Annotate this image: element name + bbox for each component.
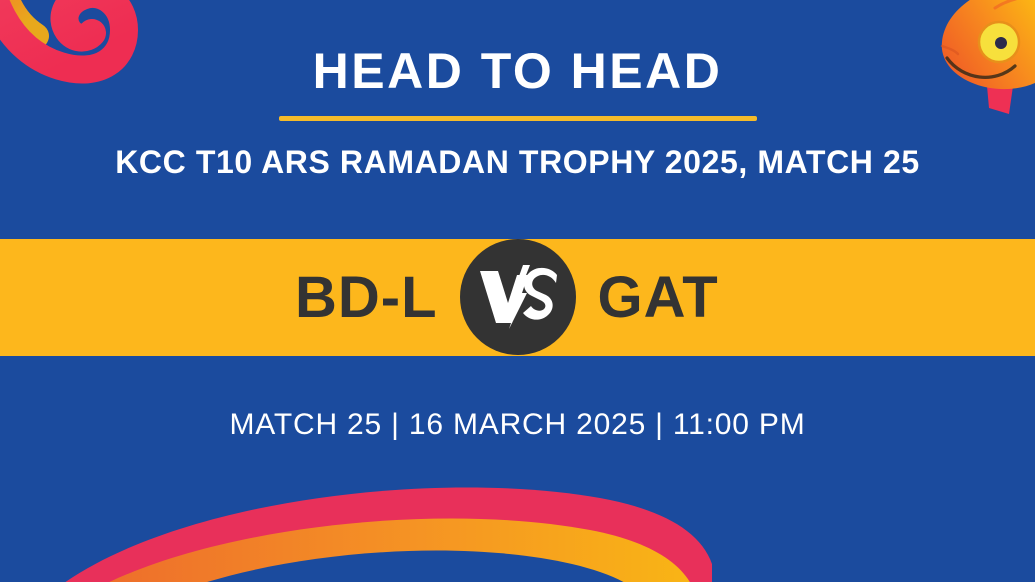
tournament-name: KCC T10 ARS RAMADAN TROPHY 2025, MATCH 2…: [0, 146, 1035, 178]
matchup-row: BD-L GAT: [0, 239, 1035, 356]
team-right-name: GAT: [598, 269, 808, 327]
head-to-head-poster: HEAD TO HEAD KCC T10 ARS RAMADAN TROPHY …: [0, 0, 1035, 582]
header-block: HEAD TO HEAD KCC T10 ARS RAMADAN TROPHY …: [0, 46, 1035, 178]
versus-band: BD-L GAT: [0, 239, 1035, 356]
page-title: HEAD TO HEAD: [0, 46, 1035, 96]
team-left-name: BD-L: [228, 269, 438, 327]
title-divider: [279, 116, 757, 121]
double-arc-icon: [0, 472, 1035, 582]
versus-badge: [460, 239, 576, 355]
match-meta: MATCH 25 | 16 MARCH 2025 | 11:00 PM: [0, 410, 1035, 440]
vs-lightning-icon: [478, 265, 558, 329]
